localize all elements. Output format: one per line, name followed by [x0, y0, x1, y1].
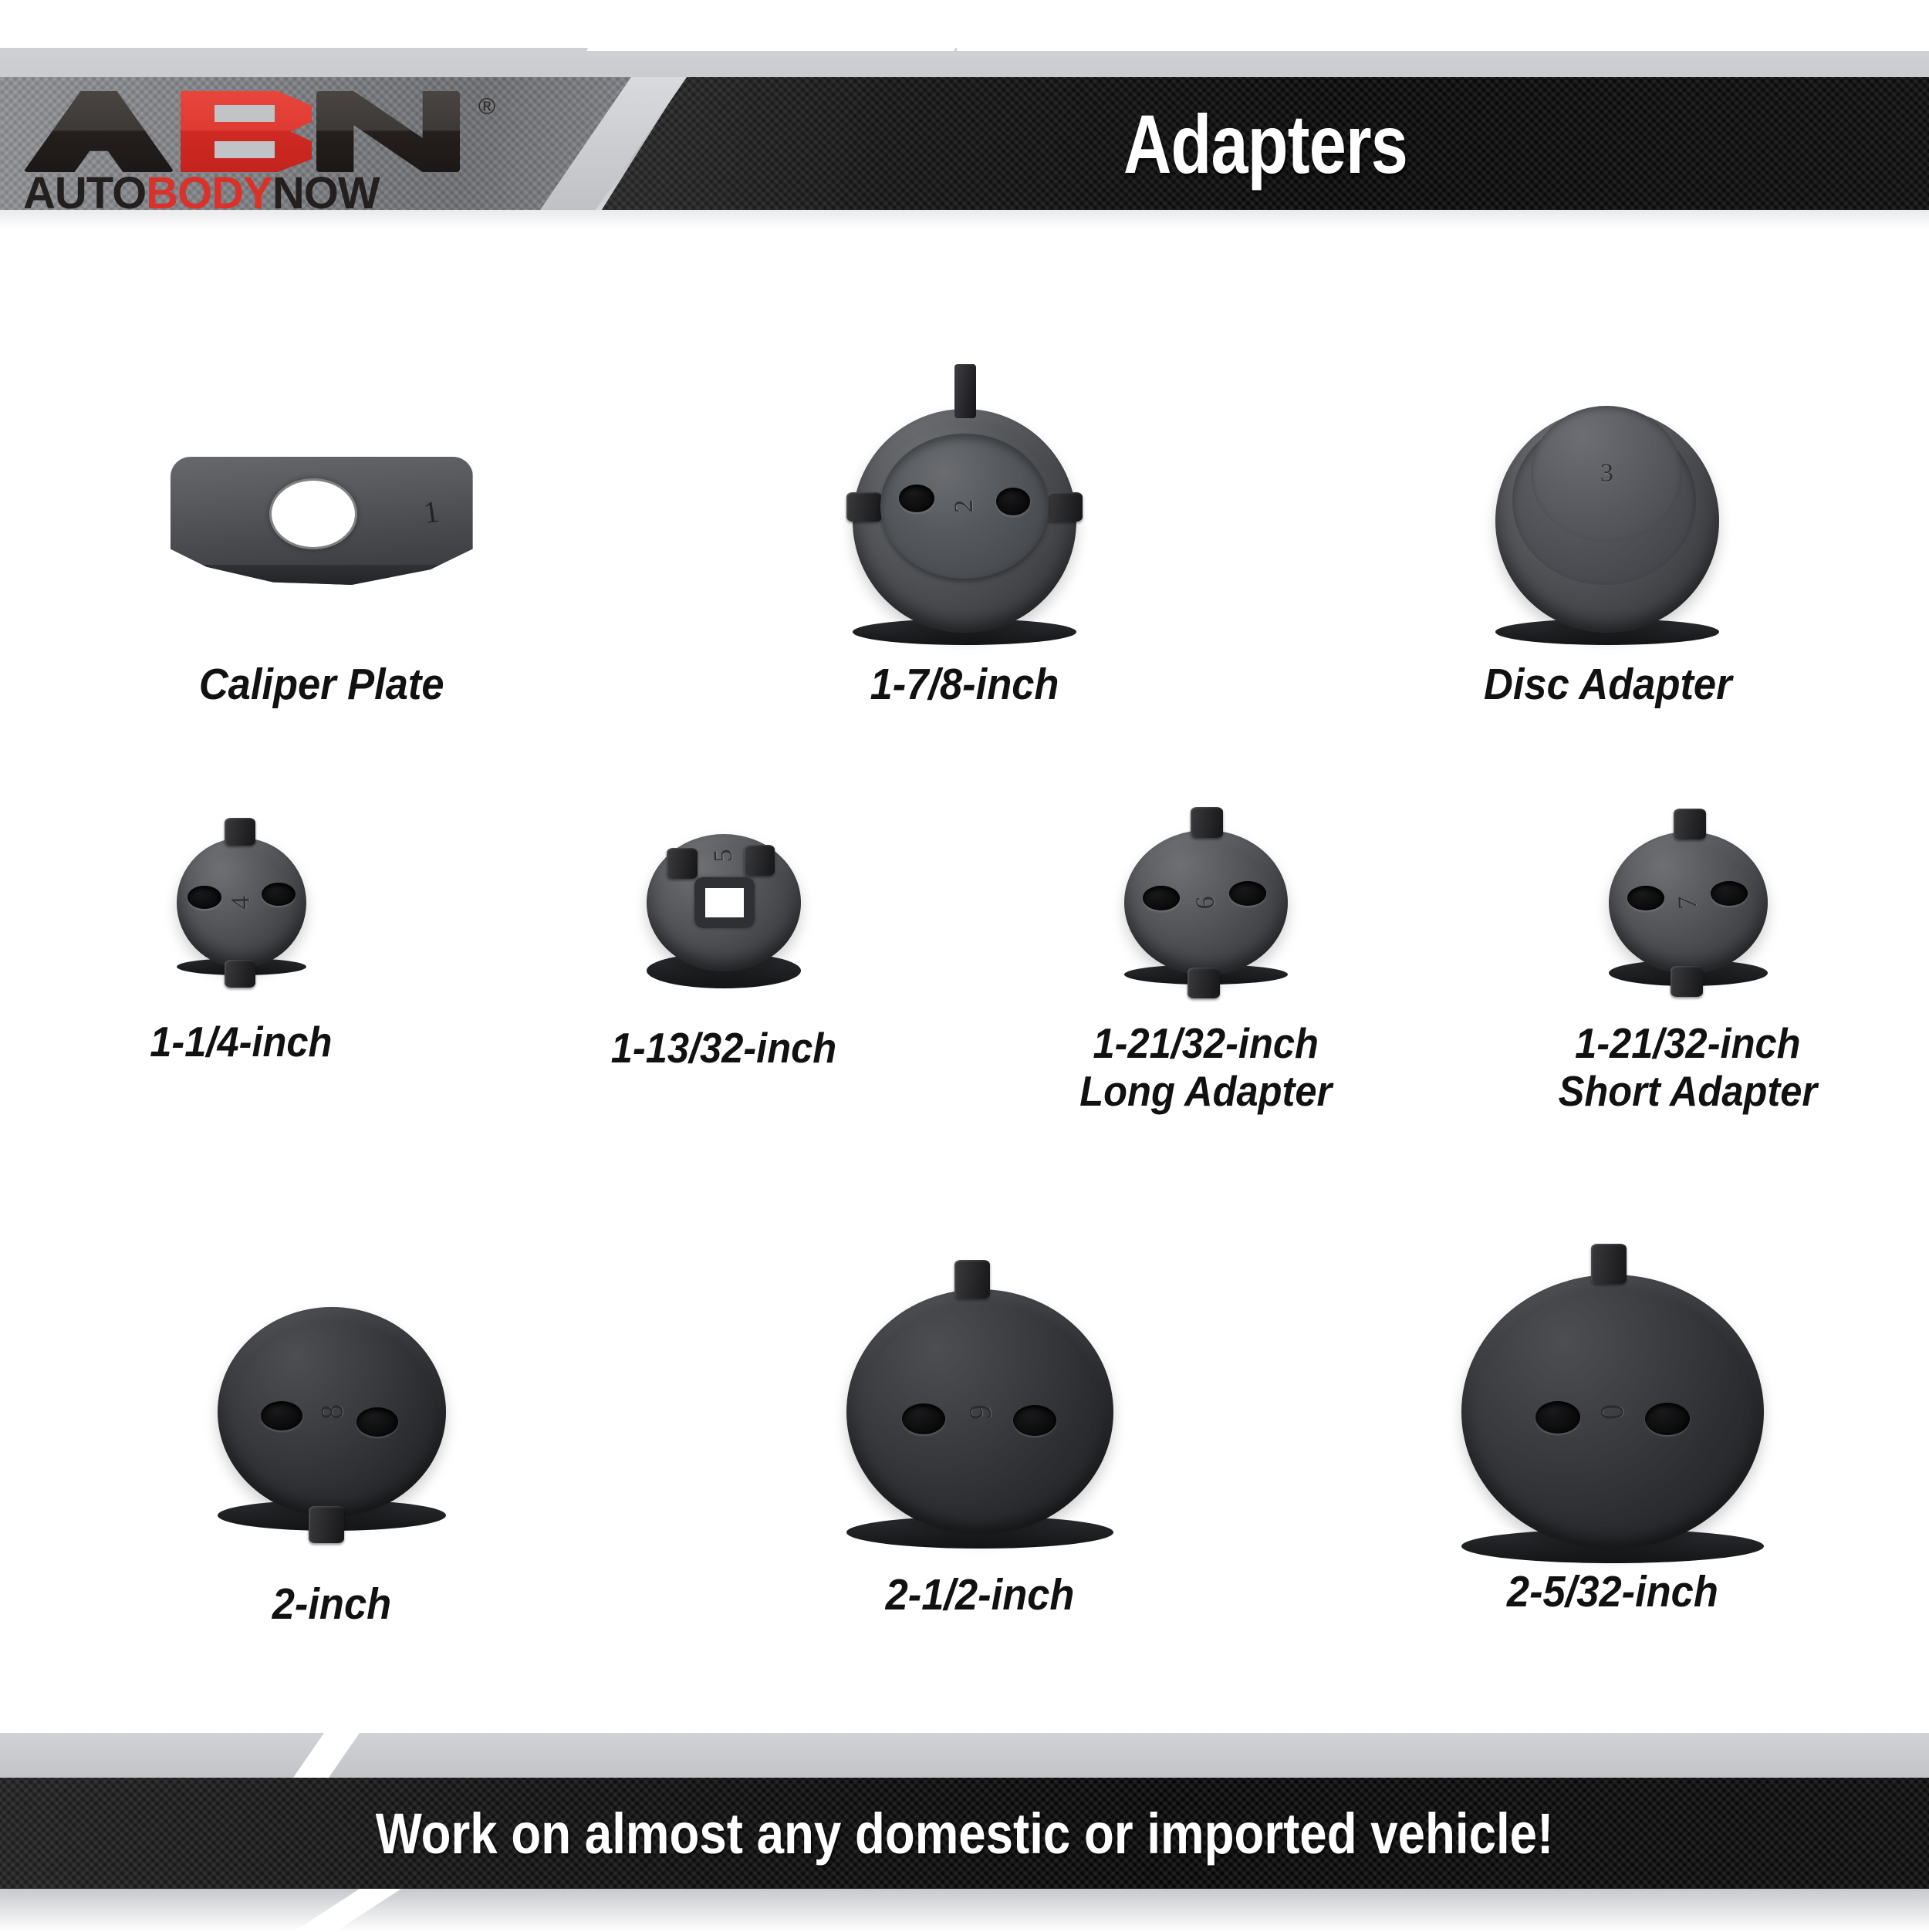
adapter-9-edge	[846, 1516, 1113, 1549]
adapter-3-edge	[1495, 619, 1719, 645]
caliper-plate-shape: 1	[171, 457, 473, 585]
adapter-label-3: Disc Adapter	[1484, 660, 1732, 710]
adapter-label-8: 2-inch	[272, 1580, 391, 1630]
adapter-image-5: 5	[647, 818, 801, 988]
part-number-stamp-1: 1	[421, 493, 441, 531]
logo-letter-n-icon	[316, 91, 460, 172]
part-number-stamp-5: 5	[708, 849, 738, 863]
adapter-image-6: 6	[1124, 818, 1288, 988]
registered-trademark-icon: ®	[478, 94, 495, 120]
adapter-9-hole-left	[902, 1403, 945, 1434]
adapter-label-6: 1-21/32-inch Long Adapter	[1079, 1020, 1332, 1115]
logo-letter-a-icon	[23, 91, 174, 172]
adapter-row-2: 4 1-1/4-inch 5 1-13/32-inch	[0, 818, 1929, 1235]
adapter-item-9: 9 2-1/2-inch	[664, 1281, 1297, 1682]
adapter-image-7: 7	[1609, 818, 1768, 988]
plate-edge	[171, 565, 473, 596]
header-top-diagonal	[586, 0, 988, 51]
adapter-item-4: 4 1-1/4-inch	[0, 818, 482, 1235]
adapter-4-pin-top	[225, 818, 255, 846]
adapter-8-shape: 8	[218, 1307, 446, 1517]
adapter-5-center-hole	[694, 877, 755, 928]
header-top-white-strip	[957, 0, 1929, 51]
adapter-5-shape: 5	[647, 834, 801, 971]
footer-tagline: Work on almost any domestic or imported …	[135, 1778, 1794, 1889]
adapter-item-5: 5 1-13/32-inch	[482, 818, 964, 1235]
adapter-2-pin-right	[1047, 492, 1083, 522]
adapter-5-pin-right	[744, 845, 775, 876]
adapter-4-shape: 4	[177, 838, 306, 968]
adapter-image-1: 1	[171, 409, 473, 633]
adapter-7-pin-bottom	[1671, 966, 1703, 997]
adapter-6-pin-top	[1191, 807, 1223, 838]
adapter-7-hole-left	[1627, 886, 1664, 910]
adapter-5-edge	[647, 953, 801, 988]
page-title: Adapters	[735, 77, 1796, 210]
adapter-5-pin-left	[667, 848, 698, 879]
abn-logo: ® AUTOBODYNOW	[23, 91, 563, 199]
adapter-2-hole-left	[899, 485, 934, 512]
adapter-label-2: 1-7/8-inch	[870, 660, 1059, 710]
adapter-label-7: 1-21/32-inch Short Adapter	[1559, 1020, 1817, 1115]
adapter-label-5: 1-13/32-inch	[610, 1025, 836, 1072]
adapter-9-pin-top	[954, 1260, 990, 1299]
adapter-6-hole-right	[1229, 881, 1266, 906]
adapter-6-hole-left	[1143, 886, 1180, 910]
adapter-9-shape: 9	[846, 1289, 1113, 1535]
adapter-10-hole-left	[1535, 1401, 1580, 1434]
adapter-row-1: 1 Caliper Plate 2 1-7/8-i	[0, 409, 1929, 779]
page-footer: Work on almost any domestic or imported …	[0, 1713, 1929, 1929]
adapter-10-hole-right	[1645, 1403, 1690, 1435]
adapter-8-pin-bottom	[309, 1506, 344, 1543]
plate-center-hole	[269, 478, 357, 549]
footer-silver-top	[0, 1733, 1929, 1778]
adapter-image-9: 9	[846, 1281, 1113, 1543]
adapter-6-shape: 6	[1124, 830, 1288, 975]
adapter-2-top-post	[954, 364, 976, 418]
adapter-image-4: 4	[177, 818, 306, 988]
adapter-label-1: Caliper Plate	[199, 660, 444, 710]
adapter-6-pin-bottom	[1187, 968, 1220, 998]
adapter-7-shape: 7	[1609, 832, 1768, 974]
adapter-8-hole-left	[261, 1401, 302, 1430]
adapter-10-edge	[1461, 1529, 1764, 1563]
adapter-2-pin-left	[846, 492, 882, 522]
adapter-10-shape: 0	[1461, 1275, 1764, 1549]
adapter-image-10: 0	[1461, 1281, 1764, 1543]
adapter-10-pin-top	[1591, 1244, 1627, 1284]
adapter-item-1: 1 Caliper Plate	[0, 409, 643, 779]
adapter-label-4: 1-1/4-inch	[150, 1018, 332, 1066]
footer-silver-bottom	[0, 1889, 1929, 1932]
adapter-9-hole-right	[1013, 1405, 1056, 1436]
adapter-3-shape: 3	[1495, 409, 1719, 633]
part-number-stamp-10: 0	[1594, 1403, 1632, 1421]
adapter-image-3: 3	[1495, 409, 1719, 633]
part-number-stamp-3: 3	[1600, 459, 1613, 488]
part-number-stamp-4: 4	[226, 896, 256, 910]
adapter-item-7: 7 1-21/32-inch Short Adapter	[1447, 818, 1929, 1235]
adapters-grid: 1 Caliper Plate 2 1-7/8-i	[0, 231, 1929, 1721]
adapter-4-hole-right	[262, 883, 296, 906]
adapter-7-hole-right	[1711, 881, 1748, 906]
header-underline	[0, 210, 1929, 230]
adapter-item-6: 6 1-21/32-inch Long Adapter	[964, 818, 1447, 1235]
adapter-item-2: 2 1-7/8-inch	[643, 409, 1285, 779]
adapter-item-10: 0 2-5/32-inch	[1296, 1281, 1929, 1682]
part-number-stamp-9: 9	[962, 1403, 999, 1420]
adapter-label-10: 2-5/32-inch	[1507, 1568, 1718, 1617]
adapter-item-3: 3 Disc Adapter	[1286, 409, 1929, 779]
part-number-stamp-6: 6	[1191, 896, 1221, 910]
adapter-image-2: 2	[853, 409, 1076, 633]
adapter-2-shape: 2	[853, 409, 1076, 633]
adapter-8-hole-right	[356, 1407, 398, 1437]
adapter-item-8: 8 2-inch	[0, 1281, 664, 1682]
adapter-3-step-top: 3	[1531, 406, 1682, 542]
adapter-7-pin-top	[1674, 809, 1706, 839]
adapter-2-edge	[853, 619, 1076, 645]
part-number-stamp-2: 2	[950, 499, 980, 513]
adapter-2-hole-right	[996, 488, 1030, 515]
adapter-4-hole-left	[187, 886, 221, 909]
page-header: ® AUTOBODYNOW Adapters	[0, 0, 1929, 231]
adapter-4-pin-bottom	[225, 960, 255, 988]
part-number-stamp-7: 7	[1673, 896, 1703, 910]
part-number-stamp-8: 8	[313, 1403, 350, 1420]
adapter-row-3: 8 2-inch 9 2-1/2-inch	[0, 1281, 1929, 1682]
adapter-2-raised-face: 2	[880, 434, 1049, 579]
logo-letter-b-icon	[181, 91, 312, 172]
adapter-image-8: 8	[218, 1281, 446, 1543]
adapter-label-9: 2-1/2-inch	[886, 1571, 1075, 1620]
